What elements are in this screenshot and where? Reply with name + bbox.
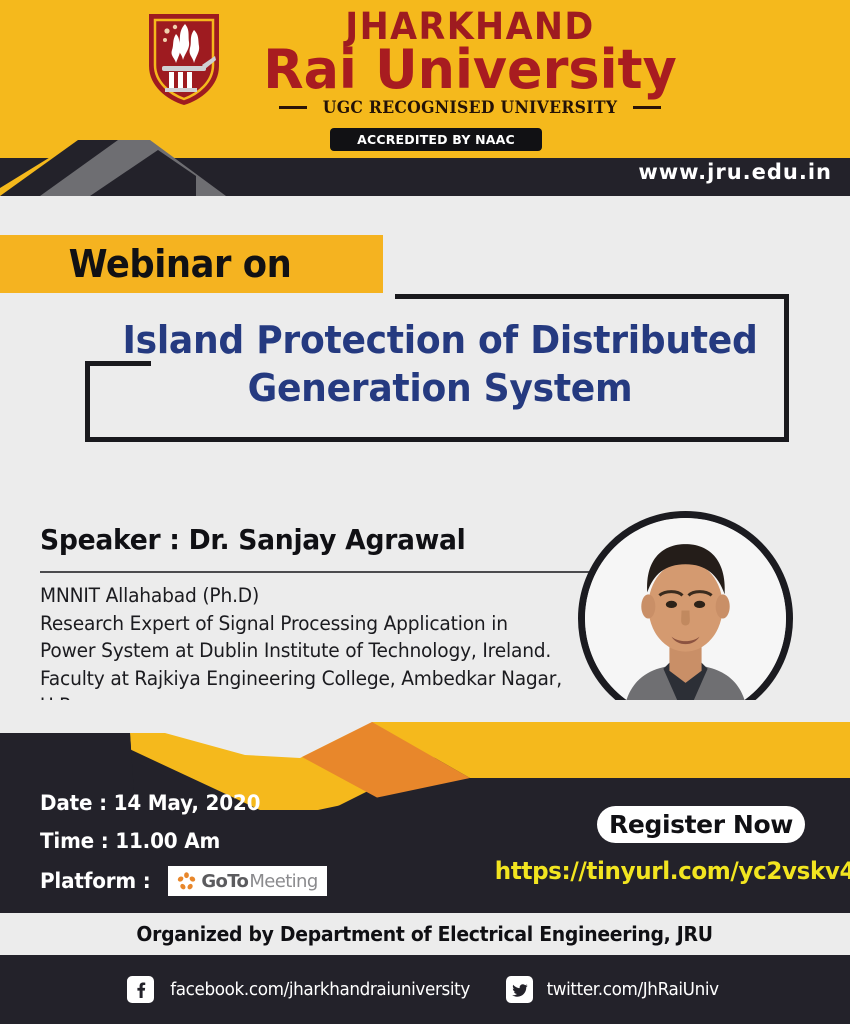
speaker-bio-line-2: Research Expert of Signal Processing App… xyxy=(40,610,584,638)
register-now-button[interactable]: Register Now xyxy=(597,806,805,843)
gotomeeting-meeting-text: Meeting xyxy=(249,871,317,892)
university-name-line2: Rai University xyxy=(242,43,698,97)
university-branding: JHARKHAND Rai University UGC RECOGNISED … xyxy=(0,8,850,117)
title-border-bottom xyxy=(85,437,789,442)
title-border-top xyxy=(395,294,789,299)
twitter-link[interactable]: twitter.com/JhRaiUniv xyxy=(506,976,722,1003)
header-light-strip xyxy=(0,196,850,202)
dash-left-decoration xyxy=(279,106,307,109)
title-border-right xyxy=(784,294,789,442)
speaker-divider xyxy=(40,571,597,573)
facebook-link[interactable]: facebook.com/jharkhandraiuniversity xyxy=(127,976,476,1003)
gotomeeting-logo: GoTo Meeting xyxy=(168,866,326,896)
dash-right-decoration xyxy=(633,106,661,109)
speaker-portrait-image xyxy=(585,518,786,719)
accreditation-badge: ACCREDITED BY NAAC xyxy=(330,128,542,151)
speaker-bio-line-1: MNNIT Allahabad (Ph.D) xyxy=(40,582,584,610)
speaker-heading: Speaker : Dr. Sanjay Agrawal xyxy=(40,523,466,556)
shield-torch-logo xyxy=(145,8,223,108)
facebook-handle[interactable]: facebook.com/jharkhandraiuniversity xyxy=(171,980,471,1000)
event-platform-row: Platform : GoTo Meeti xyxy=(40,862,370,900)
speaker-bio-line-3: Power System at Dublin Institute of Tech… xyxy=(40,637,584,665)
twitter-handle[interactable]: twitter.com/JhRaiUniv xyxy=(547,980,719,1000)
twitter-icon[interactable] xyxy=(506,976,533,1003)
webinar-poster: JHARKHAND Rai University UGC RECOGNISED … xyxy=(0,0,850,1024)
registration-link[interactable]: https://tinyurl.com/yc2vskv4 xyxy=(495,857,821,885)
event-details: Date : 14 May, 2020 Time : 11.00 Am Plat… xyxy=(40,784,370,900)
webinar-kicker-text: Webinar on xyxy=(13,235,348,293)
website-url[interactable]: www.jru.edu.in xyxy=(638,160,832,184)
title-line-2: Generation System xyxy=(108,364,773,412)
social-footer: facebook.com/jharkhandraiuniversity twit… xyxy=(0,955,850,1024)
organizer-text: Organized by Department of Electrical En… xyxy=(137,922,713,946)
organizer-band: Organized by Department of Electrical En… xyxy=(0,913,850,955)
title-border-left xyxy=(85,361,90,441)
facebook-icon[interactable] xyxy=(127,976,154,1003)
university-name-block: JHARKHAND Rai University UGC RECOGNISED … xyxy=(235,8,705,117)
recognition-text: UGC RECOGNISED UNIVERSITY xyxy=(323,98,618,117)
title-line-1: Island Protection of Distributed xyxy=(108,316,773,364)
page-title: Island Protection of Distributed Generat… xyxy=(108,316,773,412)
event-time: Time : 11.00 Am xyxy=(40,822,354,860)
gotomeeting-asterisk-icon xyxy=(177,872,196,891)
header-chevron-decoration xyxy=(0,140,270,196)
avatar xyxy=(578,511,793,726)
platform-label: Platform : xyxy=(40,862,150,900)
speaker-bio: MNNIT Allahabad (Ph.D) Research Expert o… xyxy=(40,582,584,720)
event-date: Date : 14 May, 2020 xyxy=(40,784,354,822)
gotomeeting-goto-text: GoTo xyxy=(201,871,248,892)
